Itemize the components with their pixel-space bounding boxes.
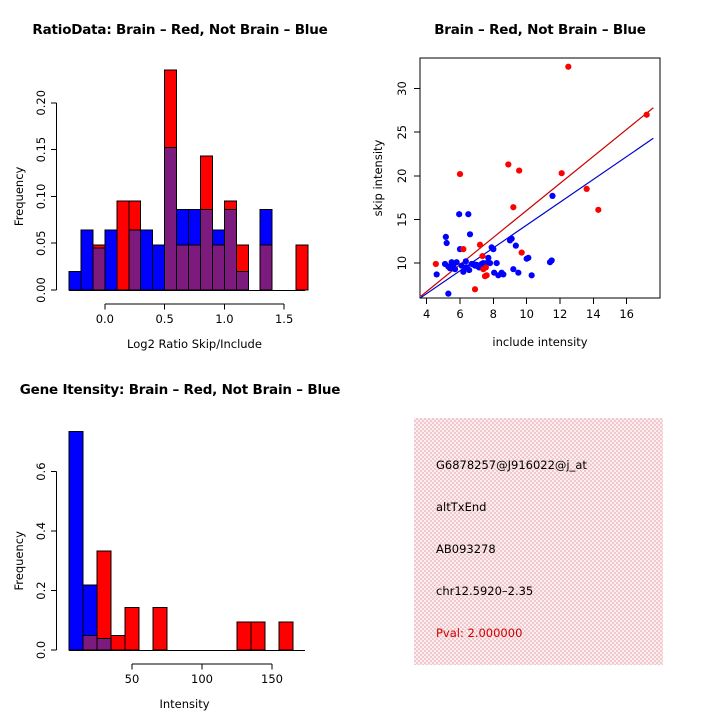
scatter-point — [463, 258, 469, 264]
scatter-point — [479, 253, 485, 259]
histogram-bar — [97, 551, 111, 639]
scatter-point — [467, 231, 473, 237]
histogram-bar — [105, 230, 117, 290]
histogram-bar-overlap — [83, 636, 97, 650]
panel-info: G6878257@J916022@j_at altTxEnd AB093278 … — [360, 360, 720, 720]
x-axis-tick-label: 150 — [261, 672, 283, 686]
histogram-bar — [212, 230, 224, 245]
histogram-bar-overlap — [129, 230, 141, 290]
histogram-bar — [279, 622, 293, 650]
histogram-bar — [69, 271, 81, 290]
figure-canvas: RatioData: Brain – Red, Not Brain – Blue… — [0, 0, 720, 720]
y-axis-tick-label: 0.0 — [34, 641, 48, 659]
scatter-point — [559, 170, 565, 176]
scatter-point — [549, 257, 555, 263]
panel-ratio-histogram: RatioData: Brain – Red, Not Brain – Blue… — [0, 0, 360, 360]
x-axis-title: Log2 Ratio Skip/Include — [127, 337, 262, 351]
scatter-point — [456, 211, 462, 217]
scatter-point — [454, 259, 460, 265]
scatter-point — [565, 64, 571, 70]
info-box: G6878257@J916022@j_at altTxEnd AB093278 … — [414, 418, 663, 665]
scatter-point — [445, 291, 451, 297]
info-line-probeset: G6878257@J916022@j_at — [436, 458, 587, 472]
ratio-histogram-plot: 0.000.050.100.150.20Frequency0.00.51.01.… — [0, 30, 360, 360]
histogram-bar-overlap — [93, 248, 105, 290]
x-axis-tick-label: 1.0 — [215, 312, 233, 326]
y-axis-title: Frequency — [12, 166, 26, 226]
scatter-point — [595, 207, 601, 213]
scatter-plot: 1015202530skip intensity46810121416inclu… — [360, 30, 720, 360]
scatter-point — [444, 240, 450, 246]
y-axis-tick-label: 20 — [395, 168, 409, 183]
scatter-point — [466, 267, 472, 273]
histogram-bar — [117, 201, 129, 290]
scatter-point — [515, 270, 521, 276]
histogram-bar — [83, 585, 97, 636]
scatter-point — [549, 193, 555, 199]
x-axis-tick-label: 0.5 — [155, 312, 173, 326]
histogram-bar-overlap — [177, 245, 189, 290]
scatter-point — [472, 286, 478, 292]
scatter-point — [513, 243, 519, 249]
scatter-point — [505, 161, 511, 167]
histogram-bar — [153, 245, 165, 290]
y-axis-title: skip intensity — [371, 139, 385, 216]
y-axis-tick-label: 30 — [395, 81, 409, 96]
x-axis-tick-label: 16 — [619, 307, 634, 321]
panel-gene-histogram: Gene Itensity: Brain – Red, Not Brain – … — [0, 360, 360, 720]
y-axis-tick-label: 25 — [395, 125, 409, 140]
scatter-point — [519, 250, 525, 256]
scatter-point — [452, 266, 458, 272]
y-axis-tick-label: 0.10 — [34, 184, 48, 210]
scatter-point — [433, 261, 439, 267]
histogram-bar — [189, 209, 201, 245]
y-axis-tick-label: 0.2 — [34, 581, 48, 599]
x-axis-tick-label: 4 — [423, 307, 430, 321]
scatter-points — [433, 64, 650, 297]
y-axis-tick-label: 0.15 — [34, 137, 48, 163]
histogram-bar — [177, 209, 189, 245]
histogram-bar — [141, 230, 153, 290]
x-axis-tick-label: 50 — [125, 672, 140, 686]
scatter-point — [644, 112, 650, 118]
fit-line-not-brain-fit — [421, 138, 654, 297]
y-axis-tick-label: 0.05 — [34, 230, 48, 256]
scatter-point — [529, 272, 535, 278]
scatter-point — [477, 242, 483, 248]
scatter-point — [525, 255, 531, 261]
scatter-point — [494, 260, 500, 266]
histogram-bar — [260, 209, 272, 245]
y-axis-tick-label: 0.00 — [34, 277, 48, 303]
info-line-event-type: altTxEnd — [436, 500, 486, 514]
scatter-point — [584, 186, 590, 192]
x-axis-tick-label: 0.0 — [96, 312, 114, 326]
histogram-bar-overlap — [97, 639, 111, 650]
scatter-point — [465, 211, 471, 217]
histogram-bar — [69, 431, 83, 650]
scatter-point — [484, 272, 490, 278]
scatter-point — [516, 167, 522, 173]
info-line-pval: Pval: 2.000000 — [436, 626, 522, 640]
histogram-bar-overlap — [200, 209, 212, 290]
x-axis-title: include intensity — [492, 335, 587, 349]
histogram-bar — [200, 156, 212, 209]
histogram-bar — [125, 607, 139, 650]
histogram-bar-overlap — [212, 245, 224, 290]
histogram-bar — [296, 245, 308, 290]
histogram-bar — [224, 201, 236, 209]
y-axis-tick-label: 0.20 — [34, 90, 48, 116]
y-axis-tick-label: 15 — [395, 212, 409, 227]
y-axis-tick-label: 0.4 — [34, 522, 48, 540]
histogram-bar-overlap — [260, 245, 272, 290]
gene-histogram-plot: 0.00.20.40.6Frequency50100150Intensity — [0, 390, 360, 720]
histogram-bar-overlap — [236, 271, 248, 290]
scatter-point — [510, 266, 516, 272]
histogram-bar — [111, 636, 125, 650]
scatter-point — [500, 271, 506, 277]
info-line-locus: chr12.5920–2.35 — [436, 584, 533, 598]
histogram-bar-overlap — [224, 209, 236, 290]
scatter-point — [483, 264, 489, 270]
histogram-bar — [236, 245, 248, 271]
histogram-bar-overlap — [165, 148, 177, 290]
info-line-accession: AB093278 — [436, 542, 496, 556]
scatter-point — [509, 236, 515, 242]
scatter-point — [434, 271, 440, 277]
x-axis-tick-label: 1.5 — [275, 312, 293, 326]
histogram-bar — [165, 70, 177, 148]
x-axis-title: Intensity — [159, 697, 209, 711]
histogram-bar — [251, 622, 265, 650]
x-axis-tick-label: 12 — [553, 307, 568, 321]
y-axis-tick-label: 10 — [395, 256, 409, 271]
histogram-bar — [237, 622, 251, 650]
svg-gene-bars — [69, 431, 293, 650]
histogram-bar-overlap — [189, 245, 201, 290]
scatter-point — [490, 246, 496, 252]
histogram-bar — [153, 607, 167, 650]
histogram-bar — [129, 201, 141, 230]
x-axis-tick-label: 8 — [490, 307, 497, 321]
y-axis-tick-label: 0.6 — [34, 462, 48, 480]
svg-ratio-bars — [69, 70, 308, 290]
scatter-point — [460, 246, 466, 252]
scatter-point — [443, 234, 449, 240]
x-axis-tick-label: 10 — [519, 307, 534, 321]
scatter-point — [485, 255, 491, 261]
y-axis-title: Frequency — [12, 531, 26, 591]
panel-scatter: Brain – Red, Not Brain – Blue 1015202530… — [360, 0, 720, 360]
x-axis-tick-label: 100 — [191, 672, 213, 686]
x-axis-tick-label: 14 — [586, 307, 601, 321]
x-axis-tick-label: 6 — [456, 307, 463, 321]
histogram-bar — [81, 230, 93, 290]
scatter-point — [457, 171, 463, 177]
scatter-point — [510, 204, 516, 210]
